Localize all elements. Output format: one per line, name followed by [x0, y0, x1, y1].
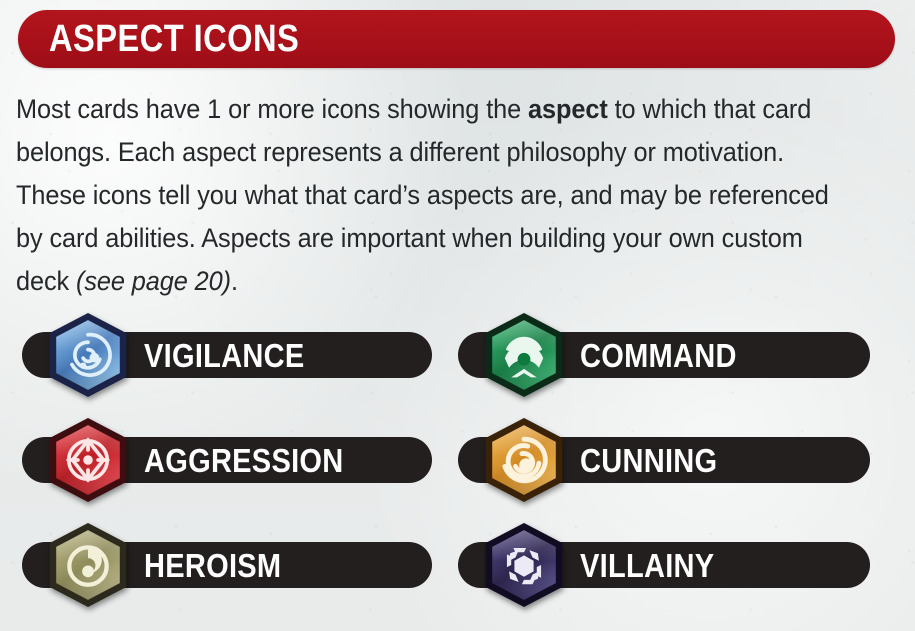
vigilance-spiral-icon	[45, 308, 131, 402]
villainy-shards-icon	[481, 518, 567, 612]
intro-text-segment-1: aspect	[528, 94, 608, 124]
aspect-label: COMMAND	[580, 339, 737, 372]
aspect-row-vigilance[interactable]: VIGILANCE	[22, 332, 432, 378]
aspect-label: HEROISM	[144, 549, 281, 582]
aspect-label: CUNNING	[580, 444, 717, 477]
aspect-row-villainy[interactable]: VILLAINY	[458, 542, 870, 588]
aggression-diamond-icon	[45, 413, 131, 507]
aspect-row-aggression[interactable]: AGGRESSION	[22, 437, 432, 483]
section-header-banner: ASPECT ICONS	[18, 10, 895, 68]
aspect-label: AGGRESSION	[144, 444, 343, 477]
aspect-row-command[interactable]: COMMAND	[458, 332, 870, 378]
aspect-label: VILLAINY	[580, 549, 714, 582]
aspect-label: VIGILANCE	[144, 339, 305, 372]
aspect-icon-grid: VIGILANCE	[0, 318, 915, 618]
aspect-row-cunning[interactable]: CUNNING	[458, 437, 870, 483]
aspect-row-heroism[interactable]: HEROISM	[22, 542, 432, 588]
intro-text-segment-3: (see page 20)	[76, 266, 231, 296]
intro-paragraph: Most cards have 1 or more icons showing …	[16, 88, 837, 303]
cunning-vortex-icon	[481, 413, 567, 507]
page-title: ASPECT ICONS	[18, 20, 299, 58]
heroism-crescent-icon	[45, 518, 131, 612]
command-chevron-icon	[481, 308, 567, 402]
intro-text-segment-4: .	[231, 266, 238, 296]
intro-text-segment-0: Most cards have 1 or more icons showing …	[16, 94, 528, 124]
